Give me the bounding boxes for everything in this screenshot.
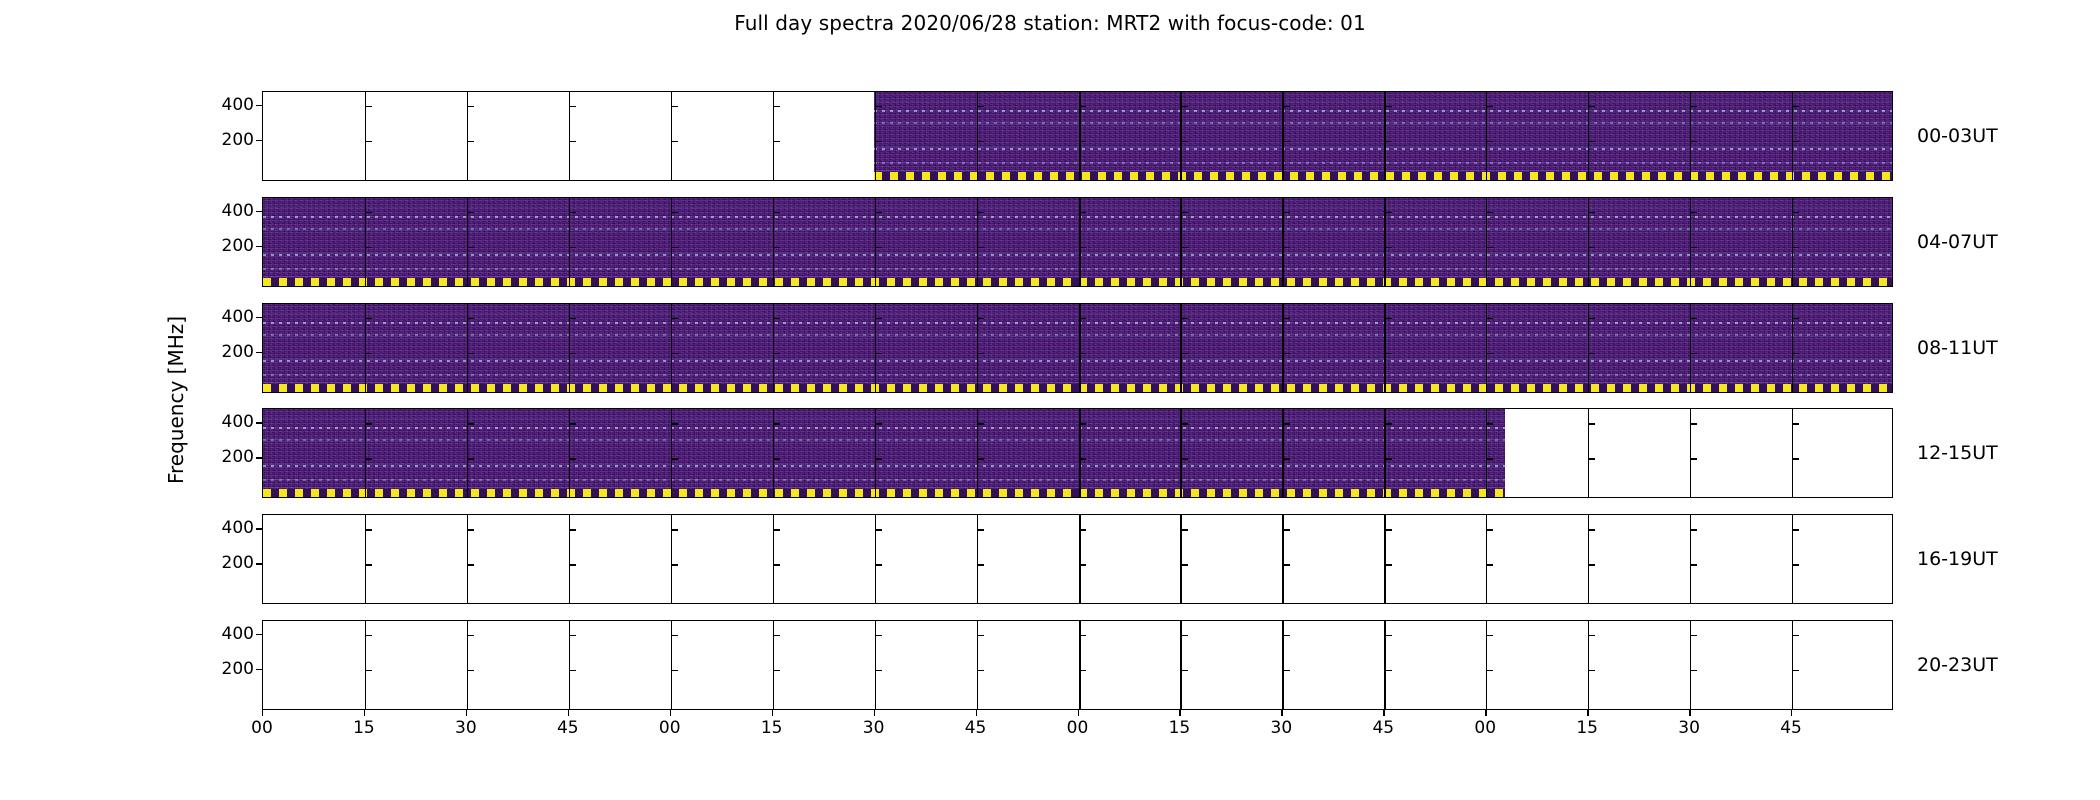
- plot-area: [262, 91, 1893, 710]
- subpanel-y-tick: [570, 318, 576, 319]
- subpanel-y-tick: [1487, 212, 1493, 213]
- y-axis-tick: [256, 246, 262, 247]
- spectra-row-12-15ut[interactable]: [262, 408, 1893, 498]
- x-axis-tick-label: 15: [1576, 718, 1598, 738]
- subpanel-y-tick: [1589, 529, 1595, 530]
- spectra-bright-line: [874, 122, 1892, 124]
- subpanel-y-tick: [978, 353, 984, 354]
- subpanel-y-tick: [1793, 353, 1799, 354]
- subpanel-y-tick: [876, 141, 882, 142]
- subpanel-y-tick: [468, 247, 474, 248]
- subpanel-y-tick: [366, 423, 372, 424]
- subpanel-y-tick: [468, 635, 474, 636]
- subpanel-y-tick: [1080, 458, 1086, 459]
- subpanel-y-tick: [1589, 212, 1595, 213]
- subpanel-y-tick: [1080, 529, 1086, 530]
- subpanel-y-tick: [1182, 635, 1188, 636]
- y-axis-tick-label: 200: [222, 447, 254, 467]
- subpanel-y-tick: [1182, 353, 1188, 354]
- subpanel-y-tick: [1793, 529, 1799, 530]
- subpanel-y-tick: [468, 353, 474, 354]
- subpanel-y-tick: [1284, 247, 1290, 248]
- subpanel-y-tick: [366, 106, 372, 107]
- spectra-bright-line: [263, 427, 1505, 429]
- y-axis-label: Frequency [MHz]: [164, 316, 188, 484]
- subpanel-y-tick: [1589, 458, 1595, 459]
- subpanel-y-tick: [1487, 635, 1493, 636]
- spectra-bright-line: [263, 360, 1892, 362]
- subpanel-y-tick: [978, 635, 984, 636]
- subpanel-y-tick: [1589, 564, 1595, 565]
- x-axis-tick: [1179, 710, 1180, 716]
- spectra-bright-line: [263, 374, 1892, 376]
- subpanel-y-tick: [1386, 141, 1392, 142]
- page-title: Full day spectra 2020/06/28 station: MRT…: [0, 11, 2100, 35]
- subpanel-y-tick: [1793, 212, 1799, 213]
- subpanel-y-tick: [876, 529, 882, 530]
- subpanel-y-tick: [1793, 564, 1799, 565]
- subpanel-y-tick: [1487, 529, 1493, 530]
- y-axis-tick-label: 400: [222, 412, 254, 432]
- subpanel-y-tick: [774, 423, 780, 424]
- subpanel-y-tick: [1793, 458, 1799, 459]
- spectra-bright-line: [263, 479, 1505, 481]
- subpanel-y-tick: [774, 564, 780, 565]
- x-axis-tick: [568, 710, 569, 716]
- subpanel-y-tick: [672, 247, 678, 248]
- subpanel-y-tick: [1284, 318, 1290, 319]
- subpanel-y-tick: [1284, 106, 1290, 107]
- y-axis-tick-label: 400: [222, 95, 254, 115]
- subpanel-y-tick: [1793, 318, 1799, 319]
- subpanel-y-tick: [1182, 458, 1188, 459]
- spectra-canvas: [263, 515, 1892, 603]
- spectra-row-08-11ut[interactable]: [262, 303, 1893, 393]
- subpanel-y-tick: [1080, 423, 1086, 424]
- x-axis-tick: [1689, 710, 1690, 716]
- subpanel-y-tick: [672, 212, 678, 213]
- y-axis-tick: [256, 317, 262, 318]
- subpanel-y-tick: [570, 423, 576, 424]
- subpanel-y-tick: [1080, 212, 1086, 213]
- subpanel-y-tick: [1589, 670, 1595, 671]
- subpanel-y-tick: [1284, 212, 1290, 213]
- subpanel-y-tick: [876, 247, 882, 248]
- subpanel-y-tick: [1386, 353, 1392, 354]
- subpanel-y-tick: [774, 670, 780, 671]
- subpanel-y-tick: [1589, 635, 1595, 636]
- spectra-canvas: [263, 92, 1892, 180]
- subpanel-y-tick: [774, 106, 780, 107]
- subpanel-y-tick: [1284, 564, 1290, 565]
- x-axis-tick-label: 30: [455, 718, 477, 738]
- y-axis-tick-label: 400: [222, 201, 254, 221]
- subpanel-y-tick: [672, 529, 678, 530]
- subpanel-y-tick: [774, 212, 780, 213]
- subpanel-y-tick: [1589, 141, 1595, 142]
- subpanel-y-tick: [876, 670, 882, 671]
- subpanel-y-tick: [1080, 247, 1086, 248]
- spectra-bright-line: [263, 322, 1892, 324]
- subpanel-y-tick: [1487, 458, 1493, 459]
- subpanel-y-tick: [672, 458, 678, 459]
- subpanel-y-tick: [672, 353, 678, 354]
- subpanel-y-tick: [1182, 529, 1188, 530]
- subpanel-y-tick: [1691, 529, 1697, 530]
- subpanel-y-tick: [468, 529, 474, 530]
- subpanel-y-tick: [978, 141, 984, 142]
- subpanel-y-tick: [1386, 670, 1392, 671]
- subpanel-y-tick: [1589, 247, 1595, 248]
- subpanel-y-tick: [1691, 106, 1697, 107]
- subpanel-y-tick: [366, 212, 372, 213]
- subpanel-y-tick: [1386, 564, 1392, 565]
- row-time-label: 12-15UT: [1917, 442, 1998, 464]
- subpanel-y-tick: [1182, 318, 1188, 319]
- subpanel-y-tick: [1386, 212, 1392, 213]
- subpanel-y-tick: [1691, 318, 1697, 319]
- subpanel-y-tick: [1386, 247, 1392, 248]
- subpanel-y-tick: [1589, 353, 1595, 354]
- y-axis-tick-label: 400: [222, 307, 254, 327]
- subpanel-y-tick: [1691, 458, 1697, 459]
- subpanel-y-tick: [366, 529, 372, 530]
- subpanel-y-tick: [978, 247, 984, 248]
- subpanel-y-tick: [1386, 106, 1392, 107]
- subpanel-y-tick: [978, 458, 984, 459]
- subpanel-y-tick: [570, 141, 576, 142]
- subpanel-y-tick: [366, 141, 372, 142]
- subpanel-y-tick: [366, 247, 372, 248]
- subpanel-y-tick: [1080, 318, 1086, 319]
- spectra-canvas: [263, 409, 1892, 497]
- subpanel-y-tick: [1284, 529, 1290, 530]
- subpanel-y-tick: [1589, 106, 1595, 107]
- spectra-data-band: [263, 198, 1892, 286]
- spectra-bright-line: [874, 110, 1892, 112]
- subpanel-y-tick: [774, 247, 780, 248]
- x-axis-tick-label: 15: [1169, 718, 1191, 738]
- y-axis-tick: [256, 634, 262, 635]
- subpanel-y-tick: [1487, 423, 1493, 424]
- spectra-bright-line: [263, 439, 1505, 441]
- subpanel-y-tick: [570, 564, 576, 565]
- subpanel-y-tick: [1182, 106, 1188, 107]
- x-axis-tick-label: 45: [965, 718, 987, 738]
- spectra-row-16-19ut[interactable]: [262, 514, 1893, 604]
- subpanel-y-tick: [366, 458, 372, 459]
- spectra-row-04-07ut[interactable]: [262, 197, 1893, 287]
- subpanel-y-tick: [1691, 564, 1697, 565]
- spectra-texture-streaks2: [874, 92, 1892, 180]
- y-axis-tick-label: 200: [222, 553, 254, 573]
- subpanel-y-tick: [570, 458, 576, 459]
- y-axis-tick-label: 200: [222, 130, 254, 150]
- subpanel-y-tick: [1080, 106, 1086, 107]
- subpanel-y-tick: [1691, 670, 1697, 671]
- x-axis-tick: [874, 710, 875, 716]
- subpanel-y-tick: [1793, 141, 1799, 142]
- subpanel-y-tick: [1691, 635, 1697, 636]
- subpanel-y-tick: [1182, 141, 1188, 142]
- row-time-label: 04-07UT: [1917, 231, 1998, 253]
- subpanel-y-tick: [876, 564, 882, 565]
- x-axis-tick: [1078, 710, 1079, 716]
- subpanel-y-tick: [468, 423, 474, 424]
- subpanel-y-tick: [1080, 141, 1086, 142]
- subpanel-y-tick: [876, 423, 882, 424]
- subpanel-y-tick: [468, 458, 474, 459]
- subpanel-y-tick: [1182, 423, 1188, 424]
- subpanel-y-tick: [1793, 423, 1799, 424]
- subpanel-y-tick: [1487, 353, 1493, 354]
- subpanel-y-tick: [672, 670, 678, 671]
- x-axis-tick-label: 45: [1780, 718, 1802, 738]
- spectra-bright-line: [874, 162, 1892, 164]
- spectra-bright-line: [263, 465, 1505, 467]
- subpanel-y-tick: [1080, 564, 1086, 565]
- spectra-bright-line: [263, 268, 1892, 270]
- subpanel-y-tick: [1487, 670, 1493, 671]
- spectra-data-band: [263, 304, 1892, 392]
- spectra-data-band: [263, 409, 1505, 497]
- subpanel-y-tick: [1386, 318, 1392, 319]
- subpanel-y-tick: [366, 318, 372, 319]
- subpanel-y-tick: [774, 318, 780, 319]
- subpanel-y-tick: [468, 670, 474, 671]
- row-time-label: 16-19UT: [1917, 548, 1998, 570]
- spectra-row-00-03ut[interactable]: [262, 91, 1893, 181]
- y-axis-tick-label: 200: [222, 659, 254, 679]
- subpanel-y-tick: [1589, 318, 1595, 319]
- x-axis-tick: [670, 710, 671, 716]
- subpanel-y-tick: [1284, 353, 1290, 354]
- y-axis-tick-label: 400: [222, 518, 254, 538]
- x-axis-tick-label: 00: [659, 718, 681, 738]
- subpanel-y-tick: [1793, 106, 1799, 107]
- subpanel-y-tick: [1487, 141, 1493, 142]
- subpanel-y-tick: [1386, 635, 1392, 636]
- subpanel-y-tick: [1691, 247, 1697, 248]
- subpanel-y-tick: [1487, 106, 1493, 107]
- x-axis-tick-label: 00: [251, 718, 273, 738]
- subpanel-y-tick: [1487, 247, 1493, 248]
- spectra-texture-streaks2: [263, 304, 1892, 392]
- subpanel-y-tick: [1589, 423, 1595, 424]
- subpanel-y-tick: [366, 635, 372, 636]
- row-time-label: 00-03UT: [1917, 125, 1998, 147]
- subpanel-y-tick: [1386, 458, 1392, 459]
- subpanel-y-tick: [978, 423, 984, 424]
- subpanel-y-tick: [468, 141, 474, 142]
- subpanel-y-tick: [978, 106, 984, 107]
- subpanel-y-tick: [1691, 212, 1697, 213]
- spectra-canvas: [263, 621, 1892, 709]
- subpanel-y-tick: [1386, 529, 1392, 530]
- spectra-texture-streaks2: [263, 198, 1892, 286]
- spectra-bright-line: [263, 334, 1892, 336]
- subpanel-y-tick: [570, 529, 576, 530]
- subpanel-y-tick: [978, 318, 984, 319]
- subpanel-y-tick: [366, 564, 372, 565]
- subpanel-y-tick: [1182, 247, 1188, 248]
- y-axis-tick: [256, 105, 262, 106]
- x-axis-tick-label: 00: [1474, 718, 1496, 738]
- subpanel-y-tick: [978, 670, 984, 671]
- subpanel-y-tick: [468, 212, 474, 213]
- x-axis-tick-label: 15: [353, 718, 375, 738]
- subpanel-y-tick: [1691, 141, 1697, 142]
- x-axis-tick: [1587, 710, 1588, 716]
- spectrogram-figure: Full day spectra 2020/06/28 station: MRT…: [0, 0, 2100, 800]
- spectra-bright-line: [263, 254, 1892, 256]
- subpanel-y-tick: [1487, 318, 1493, 319]
- subpanel-y-tick: [570, 106, 576, 107]
- subpanel-y-tick: [1793, 635, 1799, 636]
- subpanel-y-tick: [672, 141, 678, 142]
- subpanel-y-tick: [876, 106, 882, 107]
- subpanel-y-tick: [366, 670, 372, 671]
- y-axis-tick: [256, 669, 262, 670]
- x-axis-tick-label: 30: [1271, 718, 1293, 738]
- subpanel-y-tick: [774, 141, 780, 142]
- subpanel-y-tick: [1284, 141, 1290, 142]
- subpanel-y-tick: [1793, 670, 1799, 671]
- subpanel-y-tick: [570, 247, 576, 248]
- row-time-label: 20-23UT: [1917, 654, 1998, 676]
- subpanel-y-tick: [468, 106, 474, 107]
- x-axis-tick-label: 45: [557, 718, 579, 738]
- subpanel-y-tick: [468, 318, 474, 319]
- subpanel-y-tick: [1080, 670, 1086, 671]
- y-axis-tick: [256, 352, 262, 353]
- subpanel-y-tick: [1691, 423, 1697, 424]
- subpanel-y-tick: [876, 318, 882, 319]
- spectra-row-20-23ut[interactable]: [262, 620, 1893, 710]
- x-axis-tick: [364, 710, 365, 716]
- subpanel-y-tick: [1182, 670, 1188, 671]
- subpanel-y-tick: [1487, 564, 1493, 565]
- y-axis-tick: [256, 528, 262, 529]
- spectra-data-band: [874, 92, 1892, 180]
- subpanel-y-tick: [876, 353, 882, 354]
- y-axis-tick-label: 400: [222, 624, 254, 644]
- x-axis-tick: [976, 710, 977, 716]
- subpanel-y-tick: [876, 212, 882, 213]
- y-axis-tick-label: 200: [222, 342, 254, 362]
- x-axis-tick: [262, 710, 263, 716]
- spectra-bright-line: [874, 148, 1892, 150]
- y-axis-tick: [256, 211, 262, 212]
- x-axis-tick: [466, 710, 467, 716]
- subpanel-y-tick: [876, 458, 882, 459]
- subpanel-y-tick: [570, 212, 576, 213]
- x-axis-tick: [1281, 710, 1282, 716]
- subpanel-y-tick: [1793, 247, 1799, 248]
- subpanel-y-tick: [978, 564, 984, 565]
- x-axis-tick: [1485, 710, 1486, 716]
- subpanel-y-tick: [1182, 212, 1188, 213]
- x-axis-tick-label: 15: [761, 718, 783, 738]
- calibration-marker-band: [263, 489, 1505, 497]
- subpanel-y-tick: [1080, 635, 1086, 636]
- spectra-texture-streaks2: [263, 409, 1505, 497]
- subpanel-y-tick: [774, 529, 780, 530]
- subpanel-y-tick: [1080, 353, 1086, 354]
- x-axis-tick-label: 45: [1372, 718, 1394, 738]
- row-time-label: 08-11UT: [1917, 337, 1998, 359]
- x-axis-tick-label: 00: [1067, 718, 1089, 738]
- y-axis-tick: [256, 422, 262, 423]
- calibration-marker-band: [874, 172, 1892, 180]
- subpanel-y-tick: [1182, 564, 1188, 565]
- spectra-canvas: [263, 304, 1892, 392]
- calibration-marker-band: [263, 278, 1892, 286]
- subpanel-y-tick: [1691, 353, 1697, 354]
- subpanel-y-tick: [672, 318, 678, 319]
- calibration-marker-band: [263, 384, 1892, 392]
- subpanel-y-tick: [468, 564, 474, 565]
- y-axis-tick-label: 200: [222, 236, 254, 256]
- subpanel-y-tick: [672, 106, 678, 107]
- subpanel-y-tick: [1284, 458, 1290, 459]
- subpanel-y-tick: [1284, 423, 1290, 424]
- subpanel-y-tick: [570, 353, 576, 354]
- spectra-bright-line: [263, 228, 1892, 230]
- subpanel-y-tick: [672, 564, 678, 565]
- subpanel-y-tick: [366, 353, 372, 354]
- spectra-bright-line: [263, 216, 1892, 218]
- y-axis-tick: [256, 563, 262, 564]
- x-axis-tick: [772, 710, 773, 716]
- subpanel-y-tick: [1386, 423, 1392, 424]
- subpanel-y-tick: [672, 635, 678, 636]
- y-axis-tick: [256, 140, 262, 141]
- subpanel-y-tick: [978, 529, 984, 530]
- subpanel-y-tick: [774, 353, 780, 354]
- subpanel-y-tick: [774, 635, 780, 636]
- subpanel-y-tick: [774, 458, 780, 459]
- subpanel-y-tick: [1284, 670, 1290, 671]
- subpanel-y-tick: [1284, 635, 1290, 636]
- subpanel-y-tick: [570, 635, 576, 636]
- subpanel-y-tick: [876, 635, 882, 636]
- x-axis-tick: [1383, 710, 1384, 716]
- x-axis-tick-label: 30: [863, 718, 885, 738]
- x-axis-tick: [1791, 710, 1792, 716]
- spectra-canvas: [263, 198, 1892, 286]
- subpanel-y-tick: [570, 670, 576, 671]
- subpanel-y-tick: [672, 423, 678, 424]
- y-axis-tick: [256, 457, 262, 458]
- x-axis-tick-label: 30: [1678, 718, 1700, 738]
- subpanel-y-tick: [978, 212, 984, 213]
